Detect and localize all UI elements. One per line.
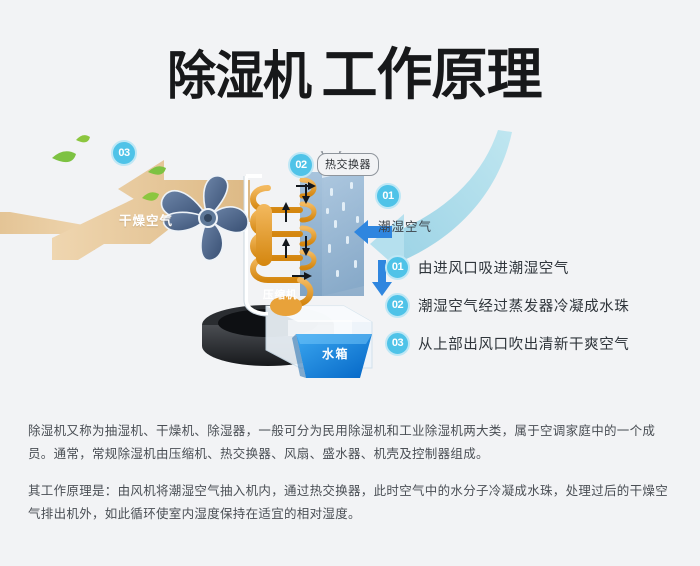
- badge-humid-air: 01: [375, 183, 401, 209]
- step-text-03: 从上部出风口吹出清新干爽空气: [418, 333, 629, 354]
- callout-heat-exchanger: 热交换器: [317, 153, 379, 176]
- step-badge-03: 03: [385, 331, 410, 356]
- step-badge-01: 01: [385, 255, 410, 280]
- label-dry-air: 干燥空气: [119, 210, 173, 229]
- body-paragraph-1: 除湿机又称为抽湿机、干燥机、除湿器，一般可分为民用除湿机和工业除湿机两大类，属于…: [28, 420, 678, 466]
- badge-heat-exchanger: 02: [288, 152, 314, 178]
- label-humid-air: 潮湿空气: [378, 216, 432, 235]
- step-badge-02: 02: [385, 293, 410, 318]
- page-title: 除湿机工作原理: [0, 30, 700, 111]
- label-compressor: 压缩机: [263, 287, 298, 302]
- dehumidifier-infographic-page: 除湿机工作原理: [0, 0, 700, 566]
- body-copy: 除湿机又称为抽湿机、干燥机、除湿器，一般可分为民用除湿机和工业除湿机两大类，属于…: [28, 420, 678, 540]
- list-item: 02 潮湿空气经过蒸发器冷凝成水珠: [385, 293, 685, 331]
- list-item: 03 从上部出风口吹出清新干爽空气: [385, 331, 685, 369]
- label-water-tank: 水箱: [322, 345, 349, 362]
- step-text-01: 由进风口吸进潮湿空气: [418, 257, 569, 278]
- page-title-part1: 除湿机: [168, 34, 312, 109]
- accumulator: [256, 204, 272, 266]
- page-title-part2: 工作原理: [322, 30, 542, 111]
- list-item: 01 由进风口吸进潮湿空气: [385, 255, 685, 293]
- body-paragraph-2: 其工作原理是：由风机将潮湿空气抽入机内，通过热交换器，此时空气中的水分子冷凝成水…: [28, 480, 678, 526]
- badge-dry-air: 03: [111, 140, 137, 166]
- step-text-02: 潮湿空气经过蒸发器冷凝成水珠: [418, 295, 629, 316]
- steps-list: 01 由进风口吸进潮湿空气 02 潮湿空气经过蒸发器冷凝成水珠 03 从上部出风…: [385, 255, 685, 369]
